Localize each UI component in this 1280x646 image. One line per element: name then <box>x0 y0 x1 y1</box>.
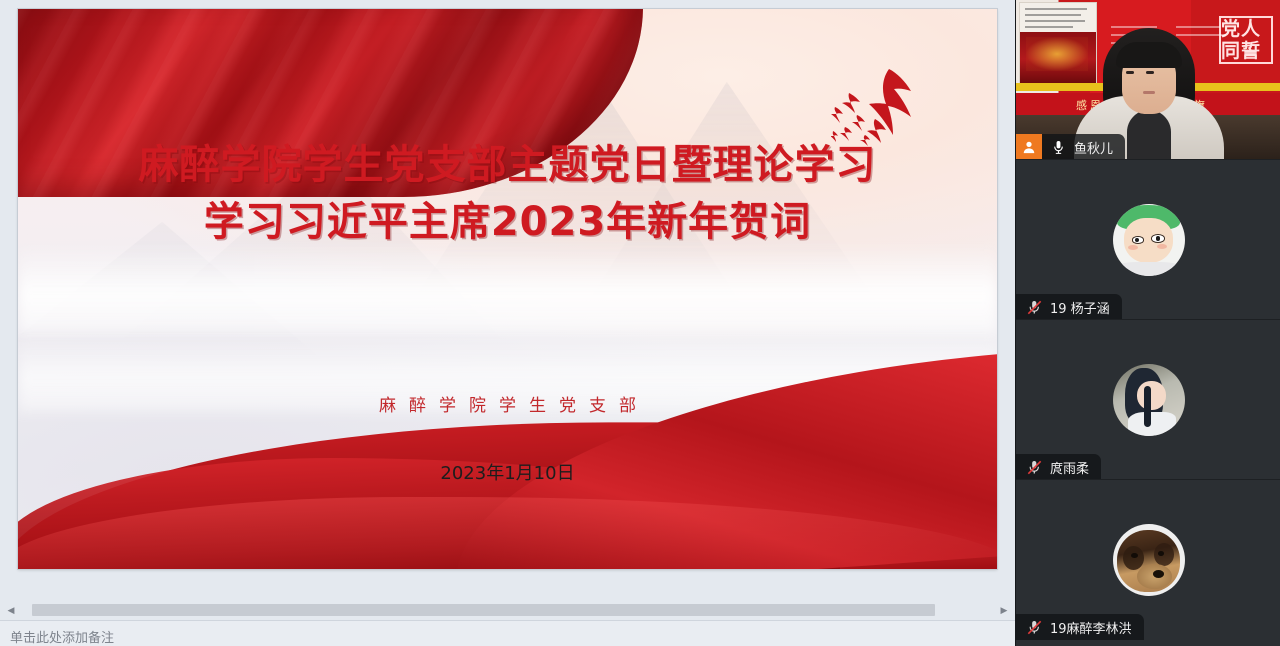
avatar <box>1113 204 1185 276</box>
participant-name-bar: 庹雨柔 <box>1016 454 1101 480</box>
participant-tile[interactable]: 庹雨柔 <box>1016 320 1280 480</box>
avatar <box>1113 524 1185 596</box>
horizontal-scrollbar[interactable]: ◀ ▶ <box>0 600 1015 620</box>
participant-name-bar: 19麻醉李林洪 <box>1016 614 1144 640</box>
participant-name-bar: 19 杨子涵 <box>1016 294 1122 320</box>
microphone-on-icon <box>1048 140 1068 155</box>
slide-title[interactable]: 麻醉学院学生党支部主题党日暨理论学习 学习习近平主席2023年新年贺词 <box>18 137 997 251</box>
person-badge-icon <box>1016 134 1042 160</box>
scrollbar-thumb[interactable] <box>32 604 935 616</box>
wall-stamp: 党人同誓 <box>1219 16 1273 64</box>
participant-tile[interactable]: 党人同誓 感恩·感思·感怀·升旗 <box>1016 0 1280 160</box>
notes-placeholder[interactable]: 单击此处添加备注 <box>10 627 1005 646</box>
triangle-right-icon[interactable]: ▶ <box>993 600 1015 620</box>
avatar <box>1113 364 1185 436</box>
video-participants-panel: 党人同誓 感恩·感思·感怀·升旗 <box>1015 0 1280 646</box>
participant-tile[interactable]: 19 杨子涵 <box>1016 160 1280 320</box>
participant-name: 庹雨柔 <box>1050 458 1089 477</box>
microphone-muted-icon <box>1024 620 1044 635</box>
microphone-muted-icon <box>1024 300 1044 315</box>
participant-name-bar: 鱼秋儿 <box>1016 134 1125 160</box>
scrollbar-track[interactable] <box>22 604 993 616</box>
presentation-editor: 麻醉学院学生党支部主题党日暨理论学习 学习习近平主席2023年新年贺词 麻醉学院… <box>0 0 1015 646</box>
participant-name: 19 杨子涵 <box>1050 298 1110 317</box>
participant-name: 鱼秋儿 <box>1074 138 1113 157</box>
participant-tile[interactable]: 19麻醉李林洪 <box>1016 480 1280 640</box>
triangle-left-icon[interactable]: ◀ <box>0 600 22 620</box>
participant-name: 19麻醉李林洪 <box>1050 618 1132 637</box>
notes-pane[interactable]: 单击此处添加备注 <box>0 620 1015 646</box>
mist-layer <box>18 244 997 334</box>
slide-date[interactable]: 2023年1月10日 <box>18 459 997 485</box>
microphone-muted-icon <box>1024 460 1044 475</box>
slide-canvas[interactable]: 麻醉学院学生党支部主题党日暨理论学习 学习习近平主席2023年新年贺词 麻醉学院… <box>18 9 997 569</box>
app-root: 麻醉学院学生党支部主题党日暨理论学习 学习习近平主席2023年新年贺词 麻醉学院… <box>0 0 1280 646</box>
slide-subtitle[interactable]: 麻醉学院学生党支部 <box>18 391 997 416</box>
